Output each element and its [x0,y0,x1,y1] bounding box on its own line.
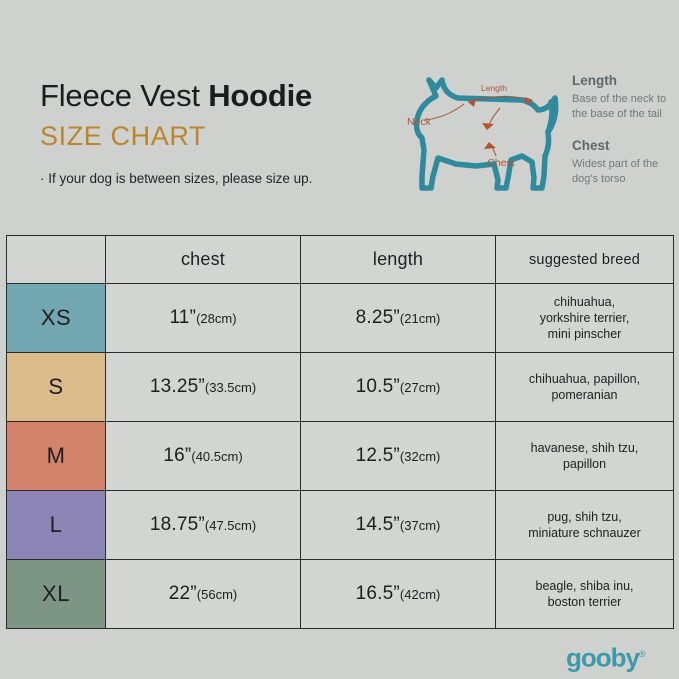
chest-measurement-cell: 13.25”(33.5cm) [106,353,301,422]
size-chart-table: chest length suggested breed XS11”(28cm)… [6,235,674,629]
chest-centimeters: (40.5cm) [191,449,242,464]
table-header-chest: chest [106,236,301,284]
dog-outline-icon: Neck Length Chest [398,58,570,200]
legend-item-length: Length Base of the neck to the base of t… [572,72,676,121]
table-header-row: chest length suggested breed [7,236,674,284]
table-row: XL22”(56cm)16.5”(42cm)beagle, shiba inu,… [7,560,674,629]
chest-centimeters: (28cm) [196,311,236,326]
title-block: Fleece Vest Hoodie SIZE CHART · If your … [40,78,400,187]
table-row: M16”(40.5cm)12.5”(32cm)havanese, shih tz… [7,422,674,491]
suggested-breed-cell: pug, shih tzu,miniature schnauzer [496,491,674,560]
size-cell-m: M [7,422,106,491]
diagram-label-chest: Chest [487,157,515,169]
length-centimeters: (32cm) [400,449,440,464]
chest-inches: 18.75” [150,514,205,535]
chest-measurement-cell: 16”(40.5cm) [106,422,301,491]
length-inches: 8.25” [356,307,400,328]
page-title-bold: Hoodie [208,78,312,113]
page-subtitle: SIZE CHART [40,121,400,152]
suggested-breed-cell: chihuahua,yorkshire terrier,mini pinsche… [496,284,674,353]
chest-inches: 16” [163,445,191,466]
suggested-breed-cell: chihuahua, papillon,pomeranian [496,353,674,422]
suggested-breed-cell: beagle, shiba inu,boston terrier [496,560,674,629]
length-measurement-cell: 16.5”(42cm) [301,560,496,629]
suggested-breed-cell: havanese, shih tzu,papillon [496,422,674,491]
page-title: Fleece Vest Hoodie [40,78,400,114]
brand-logo-text: gooby [566,643,639,673]
length-measurement-cell: 8.25”(21cm) [301,284,496,353]
length-centimeters: (21cm) [400,311,440,326]
page-title-light: Fleece Vest [40,78,208,113]
chest-measurement-cell: 22”(56cm) [106,560,301,629]
size-cell-l: L [7,491,106,560]
legend-term-length: Length [572,72,676,90]
table-body: XS11”(28cm)8.25”(21cm)chihuahua,yorkshir… [7,284,674,629]
size-cell-xs: XS [7,284,106,353]
length-inches: 12.5” [356,445,400,466]
header-section: Fleece Vest Hoodie SIZE CHART · If your … [0,0,679,232]
size-cell-s: S [7,353,106,422]
length-measurement-cell: 10.5”(27cm) [301,353,496,422]
length-centimeters: (27cm) [400,380,440,395]
legend-term-chest: Chest [572,137,676,155]
length-measurement-cell: 14.5”(37cm) [301,491,496,560]
chest-centimeters: (47.5cm) [205,518,256,533]
table-row: XS11”(28cm)8.25”(21cm)chihuahua,yorkshir… [7,284,674,353]
chest-measurement-cell: 11”(28cm) [106,284,301,353]
registered-mark: ® [639,649,646,659]
table-header-length: length [301,236,496,284]
length-centimeters: (37cm) [400,518,440,533]
chest-inches: 11” [169,307,196,328]
legend-desc-chest: Widest part of the dog's torso [572,157,676,186]
length-measurement-cell: 12.5”(32cm) [301,422,496,491]
legend-desc-length: Base of the neck to the base of the tail [572,92,676,121]
length-centimeters: (42cm) [400,587,440,602]
chest-inches: 13.25” [150,376,205,397]
diagram-label-length: Length [481,83,507,93]
table-row: L18.75”(47.5cm)14.5”(37cm)pug, shih tzu,… [7,491,674,560]
legend-item-chest: Chest Widest part of the dog's torso [572,137,676,186]
size-cell-xl: XL [7,560,106,629]
diagram-label-neck: Neck [407,116,432,128]
chest-centimeters: (56cm) [197,587,237,602]
table-header-breed: suggested breed [496,236,674,284]
dog-measurement-diagram: Neck Length Chest [398,58,570,200]
sizing-note: · If your dog is between sizes, please s… [40,170,400,187]
brand-logo: gooby® [566,640,646,672]
chest-inches: 22” [169,583,197,604]
length-inches: 14.5” [356,514,400,535]
chest-measurement-cell: 18.75”(47.5cm) [106,491,301,560]
length-inches: 16.5” [356,583,400,604]
length-inches: 10.5” [356,376,400,397]
chest-centimeters: (33.5cm) [205,380,256,395]
table-row: S13.25”(33.5cm)10.5”(27cm)chihuahua, pap… [7,353,674,422]
table-header-size [7,236,106,284]
measurement-legend: Length Base of the neck to the base of t… [572,72,676,202]
